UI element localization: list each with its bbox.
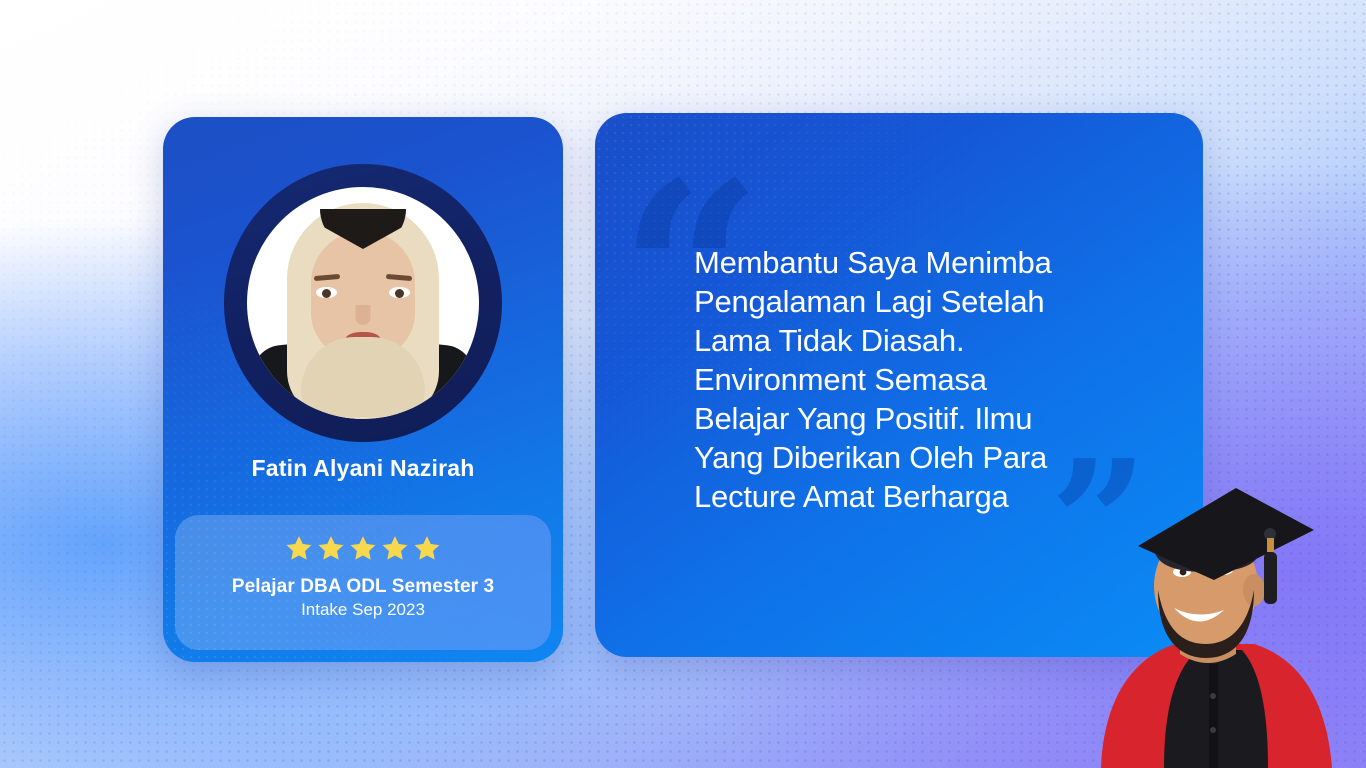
rating-panel: Pelajar DBA ODL Semester 3 Intake Sep 20… <box>175 515 551 650</box>
profile-card: Fatin Alyani Nazirah Pelajar DBA ODL Sem… <box>163 117 563 662</box>
star-icon <box>285 534 313 562</box>
graduate-photo <box>1046 468 1366 768</box>
profile-name: Fatin Alyani Nazirah <box>163 455 563 482</box>
intake-label: Intake Sep 2023 <box>175 600 551 620</box>
graduate-button <box>1210 693 1216 699</box>
avatar-photo <box>247 187 479 419</box>
graduate-shirt-placket <box>1209 664 1218 768</box>
avatar-ring <box>224 164 502 442</box>
star-icon <box>381 534 409 562</box>
star-icon <box>317 534 345 562</box>
star-icon <box>413 534 441 562</box>
portrait-nose <box>356 305 371 325</box>
star-rating <box>175 515 551 562</box>
student-role-label: Pelajar DBA ODL Semester 3 <box>175 576 551 598</box>
graduate-button <box>1210 727 1216 733</box>
graduate-tassel <box>1264 552 1277 604</box>
star-icon <box>349 534 377 562</box>
portrait-pupil-left <box>322 289 331 298</box>
graduate-tassel-band <box>1267 538 1274 552</box>
portrait-pupil-right <box>395 289 404 298</box>
